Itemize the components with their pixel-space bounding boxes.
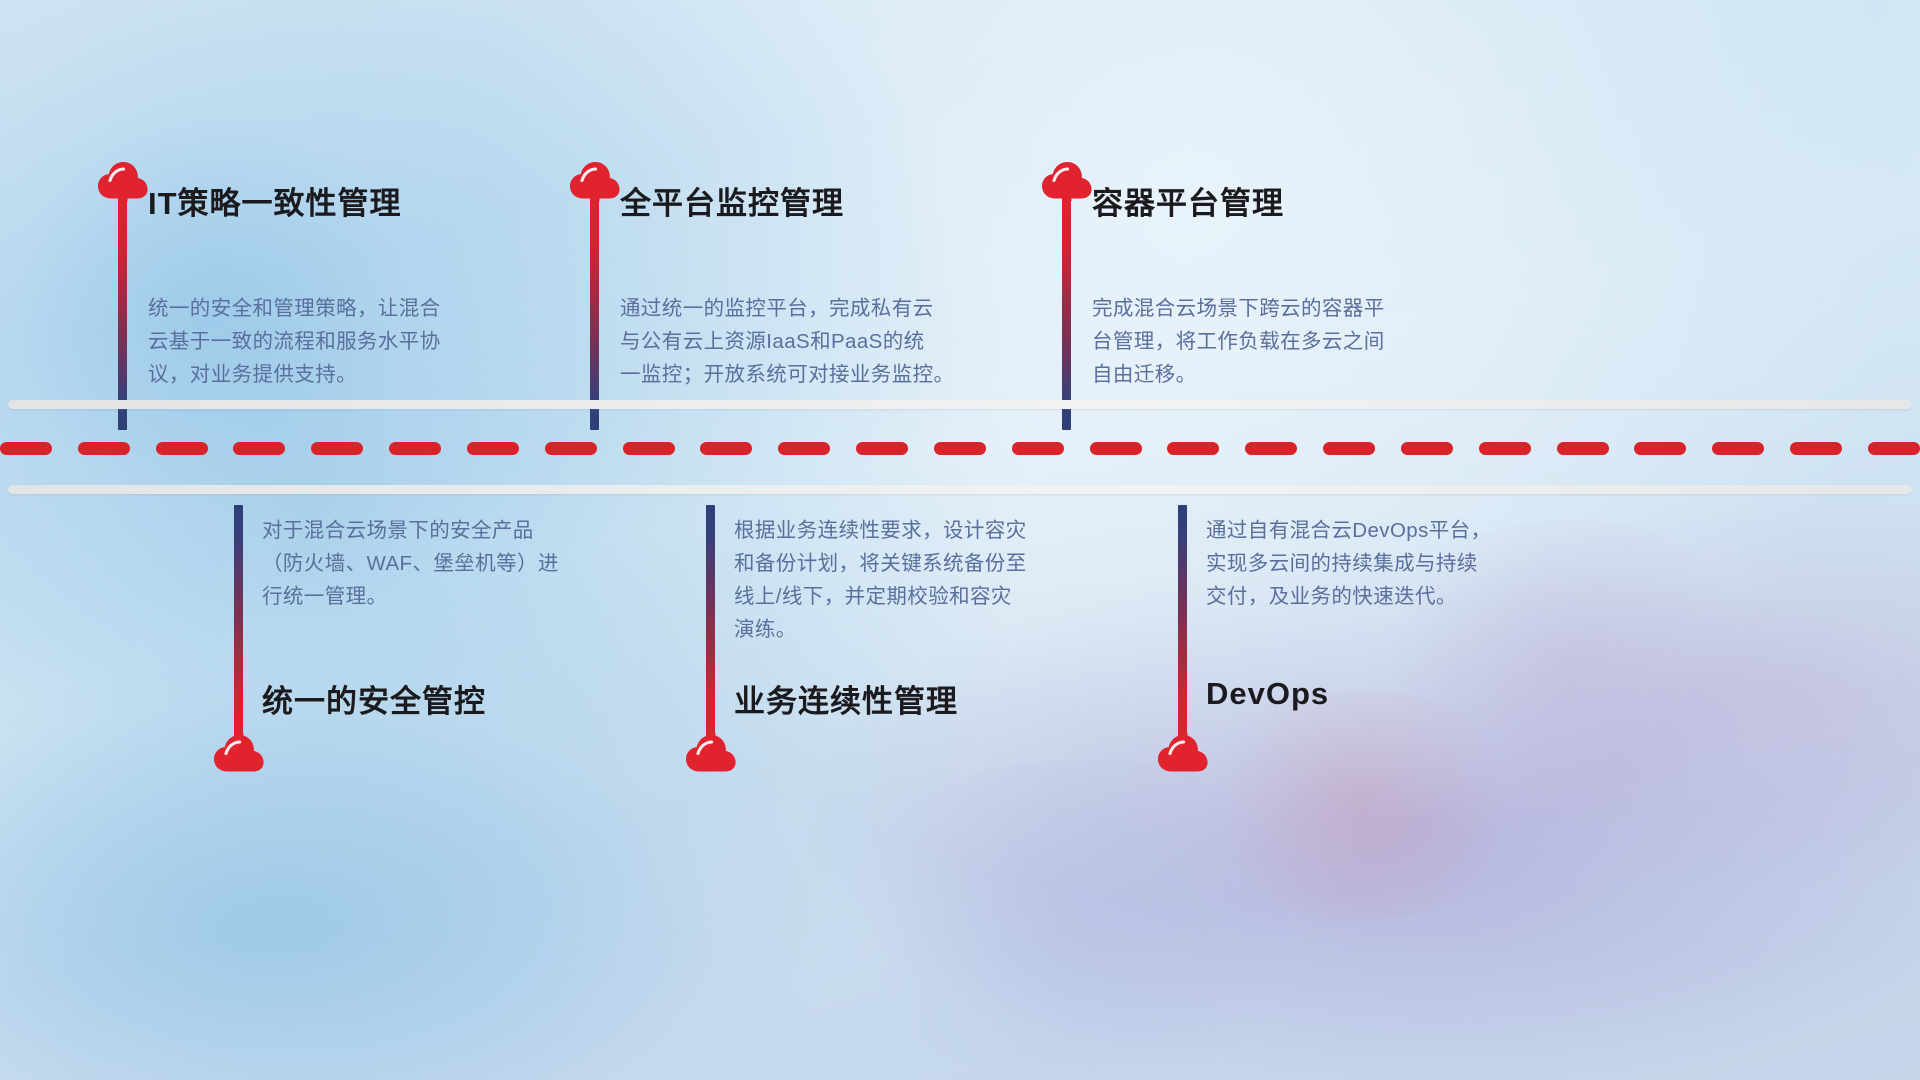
cloud-pin-icon	[568, 160, 622, 202]
road-dash-segment	[1401, 442, 1453, 455]
road-dash-segment	[467, 442, 519, 455]
road-dash-segment	[623, 442, 675, 455]
road-dash-segment	[1557, 442, 1609, 455]
road-edge-top-line	[8, 400, 1912, 409]
pin-stem	[1062, 190, 1071, 430]
cloud-pin-icon	[684, 733, 738, 775]
heading-container-platform: 容器平台管理	[1092, 178, 1284, 223]
heading-full-platform-monitoring: 全平台监控管理	[620, 178, 844, 223]
pin-stem	[590, 190, 599, 430]
road-dash-segment	[389, 442, 441, 455]
road-dash-segment	[1167, 442, 1219, 455]
description-it-policy-consistency: 统一的安全和管理策略，让混合 云基于一致的流程和服务水平协 议，对业务提供支持。	[148, 292, 498, 391]
road-dash-segment	[1323, 442, 1375, 455]
road-dash-segment	[700, 442, 752, 455]
pin-stem	[1178, 505, 1187, 745]
road-dash-segment	[233, 442, 285, 455]
heading-devops: DevOps	[1206, 676, 1329, 712]
description-unified-security-control: 对于混合云场景下的安全产品 （防火墙、WAF、堡垒机等）进 行统一管理。	[262, 514, 622, 613]
pin-stem	[706, 505, 715, 745]
road-dash-segment	[1479, 442, 1531, 455]
background-blob-pink	[1180, 690, 1540, 920]
pin-stem	[234, 505, 243, 745]
heading-unified-security-control: 统一的安全管控	[262, 676, 486, 721]
road-dash-segment	[934, 442, 986, 455]
road-edge-bottom-line	[8, 485, 1912, 494]
road-dash-segment	[1712, 442, 1764, 455]
road-dash-segment	[778, 442, 830, 455]
road-dash-segment	[156, 442, 208, 455]
description-full-platform-monitoring: 通过统一的监控平台，完成私有云 与公有云上资源IaaS和PaaS的统 一监控；开…	[620, 292, 990, 391]
road-dash-segment	[1245, 442, 1297, 455]
cloud-pin-icon	[1156, 733, 1210, 775]
road-dash-segment	[1790, 442, 1842, 455]
road-dash-segment	[1090, 442, 1142, 455]
road-center-dashes	[0, 442, 1920, 455]
road-dash-segment	[311, 442, 363, 455]
cloud-pin-icon	[96, 160, 150, 202]
road-dash-segment	[78, 442, 130, 455]
description-devops: 通过自有混合云DevOps平台， 实现多云间的持续集成与持续 交付，及业务的快速…	[1206, 514, 1566, 613]
cloud-pin-icon	[212, 733, 266, 775]
heading-it-policy-consistency: IT策略一致性管理	[148, 178, 402, 223]
road-dash-segment	[545, 442, 597, 455]
description-business-continuity: 根据业务连续性要求，设计容灾 和备份计划，将关键系统备份至 线上/线下，并定期校…	[734, 514, 1094, 646]
road-dash-segment	[1868, 442, 1920, 455]
road-dash-segment	[0, 442, 52, 455]
background-blob-bottom	[820, 760, 1340, 1080]
cloud-pin-icon	[1040, 160, 1094, 202]
pin-stem	[118, 190, 127, 430]
road-dash-segment	[856, 442, 908, 455]
road-dash-segment	[1634, 442, 1686, 455]
description-container-platform: 完成混合云场景下跨云的容器平 台管理，将工作负载在多云之间 自由迁移。	[1092, 292, 1442, 391]
heading-business-continuity: 业务连续性管理	[734, 676, 958, 721]
infographic-canvas: IT策略一致性管理 统一的安全和管理策略，让混合 云基于一致的流程和服务水平协 …	[0, 0, 1920, 1080]
road-dash-segment	[1012, 442, 1064, 455]
